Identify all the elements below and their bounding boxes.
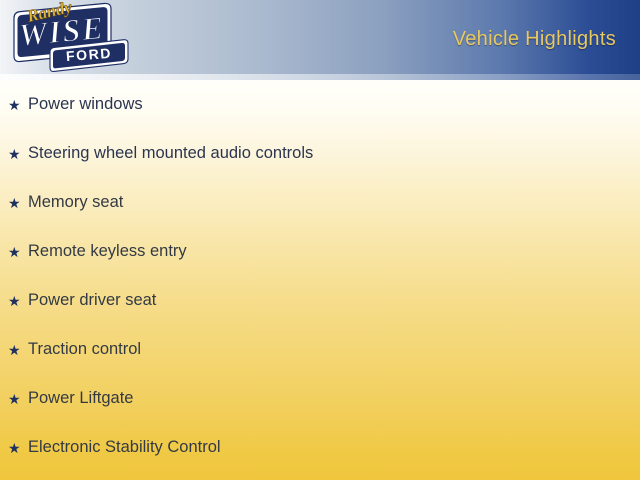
- list-item: ★ Electronic Stability Control: [0, 423, 640, 472]
- slide-header: WISE FORD Randy Vehicle Highlights: [0, 0, 640, 80]
- list-item: ★ Steering wheel mounted audio controls: [0, 129, 640, 178]
- list-item-label: Steering wheel mounted audio controls: [28, 145, 640, 162]
- list-item-label: Electronic Stability Control: [28, 439, 640, 456]
- list-item-label: Power driver seat: [28, 292, 640, 309]
- list-item-label: Power windows: [28, 96, 640, 113]
- highlights-panel: ★ Power windows ★ Steering wheel mounted…: [0, 80, 640, 480]
- logo-ford-text: FORD: [65, 45, 112, 64]
- list-item: ★ Power windows: [0, 80, 640, 129]
- list-item-label: Remote keyless entry: [28, 243, 640, 260]
- vehicle-highlights-slide: WISE FORD Randy Vehicle Highlights ★ Pow…: [0, 0, 640, 480]
- star-icon: ★: [8, 196, 28, 210]
- list-item: ★ Power driver seat: [0, 276, 640, 325]
- list-item-label: Power Liftgate: [28, 390, 640, 407]
- star-icon: ★: [8, 294, 28, 308]
- list-item-label: Traction control: [28, 341, 640, 358]
- star-icon: ★: [8, 147, 28, 161]
- list-item-label: Memory seat: [28, 194, 640, 211]
- star-icon: ★: [8, 245, 28, 259]
- star-icon: ★: [8, 98, 28, 112]
- star-icon: ★: [8, 343, 28, 357]
- list-item: ★ Traction control: [0, 325, 640, 374]
- page-title: Vehicle Highlights: [453, 28, 616, 51]
- list-item: ★ Power Liftgate: [0, 374, 640, 423]
- list-item: ★ Memory seat: [0, 178, 640, 227]
- randy-wise-ford-logo: WISE FORD Randy: [6, 2, 138, 80]
- star-icon: ★: [8, 392, 28, 406]
- star-icon: ★: [8, 441, 28, 455]
- vehicle-highlights-list: ★ Power windows ★ Steering wheel mounted…: [0, 80, 640, 472]
- list-item: ★ Remote keyless entry: [0, 227, 640, 276]
